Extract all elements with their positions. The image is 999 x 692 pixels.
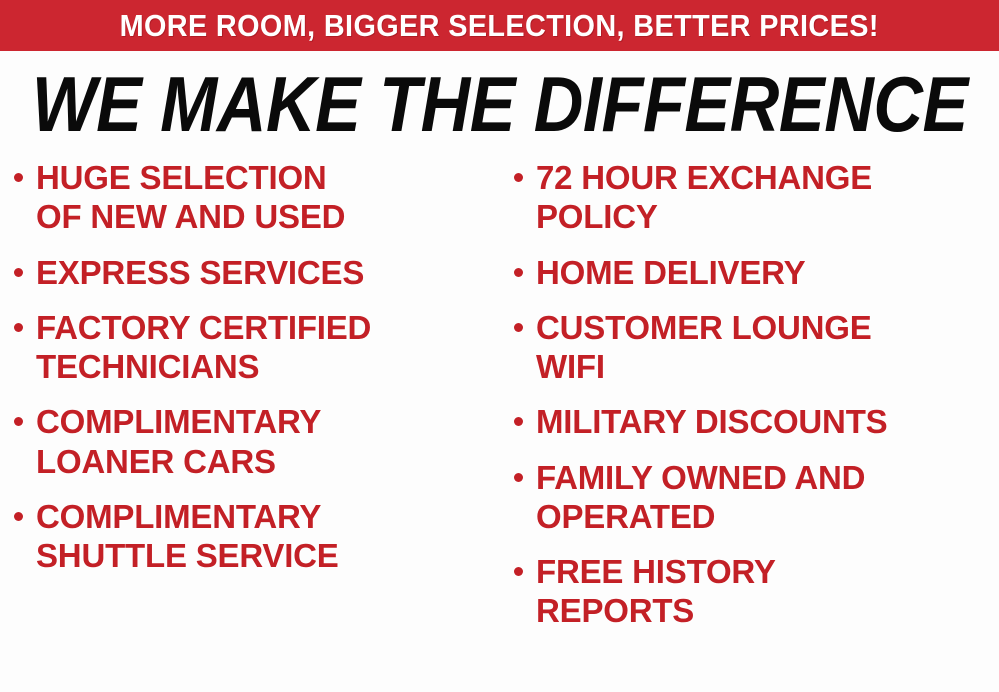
- list-item: COMPLIMENTARY SHUTTLE SERVICE: [14, 497, 500, 576]
- list-item-label: FREE HISTORY REPORTS: [536, 552, 776, 631]
- list-item-label: EXPRESS SERVICES: [36, 253, 364, 292]
- bullet-dot-icon: [14, 417, 23, 426]
- list-item: HOME DELIVERY: [514, 253, 999, 292]
- bullet-dot-icon: [514, 173, 523, 182]
- list-item-label: HOME DELIVERY: [536, 253, 805, 292]
- bullet-dot-icon: [514, 268, 523, 277]
- list-item-label: MILITARY DISCOUNTS: [536, 402, 887, 441]
- list-item: MILITARY DISCOUNTS: [514, 402, 999, 441]
- bullet-dot-icon: [14, 512, 23, 521]
- bullet-dot-icon: [514, 473, 523, 482]
- bullet-dot-icon: [14, 268, 23, 277]
- bullet-dot-icon: [514, 417, 523, 426]
- list-item-label: FAMILY OWNED AND OPERATED: [536, 458, 865, 537]
- list-item: CUSTOMER LOUNGE WIFI: [514, 308, 999, 387]
- list-item: FAMILY OWNED AND OPERATED: [514, 458, 999, 537]
- list-item: COMPLIMENTARY LOANER CARS: [14, 402, 500, 481]
- list-item-label: CUSTOMER LOUNGE WIFI: [536, 308, 872, 387]
- bullet-dot-icon: [14, 173, 23, 182]
- headline-container: WE MAKE THE DIFFERENCE: [0, 62, 999, 146]
- promo-banner-text: MORE ROOM, BIGGER SELECTION, BETTER PRIC…: [120, 10, 879, 41]
- list-item-label: HUGE SELECTION OF NEW AND USED: [36, 158, 345, 237]
- list-item: FACTORY CERTIFIED TECHNICIANS: [14, 308, 500, 387]
- benefits-column-left: HUGE SELECTION OF NEW AND USED EXPRESS S…: [14, 158, 500, 591]
- list-item: FREE HISTORY REPORTS: [514, 552, 999, 631]
- list-item: HUGE SELECTION OF NEW AND USED: [14, 158, 500, 237]
- benefits-columns: HUGE SELECTION OF NEW AND USED EXPRESS S…: [0, 158, 999, 692]
- benefits-column-right: 72 HOUR EXCHANGE POLICY HOME DELIVERY CU…: [514, 158, 999, 647]
- list-item-label: COMPLIMENTARY SHUTTLE SERVICE: [36, 497, 339, 576]
- bullet-dot-icon: [14, 323, 23, 332]
- list-item: EXPRESS SERVICES: [14, 253, 500, 292]
- page-title: WE MAKE THE DIFFERENCE: [31, 65, 967, 143]
- list-item: 72 HOUR EXCHANGE POLICY: [514, 158, 999, 237]
- list-item-label: FACTORY CERTIFIED TECHNICIANS: [36, 308, 371, 387]
- promo-banner: MORE ROOM, BIGGER SELECTION, BETTER PRIC…: [0, 0, 999, 51]
- list-item-label: 72 HOUR EXCHANGE POLICY: [536, 158, 872, 237]
- bullet-dot-icon: [514, 323, 523, 332]
- list-item-label: COMPLIMENTARY LOANER CARS: [36, 402, 321, 481]
- bullet-dot-icon: [514, 567, 523, 576]
